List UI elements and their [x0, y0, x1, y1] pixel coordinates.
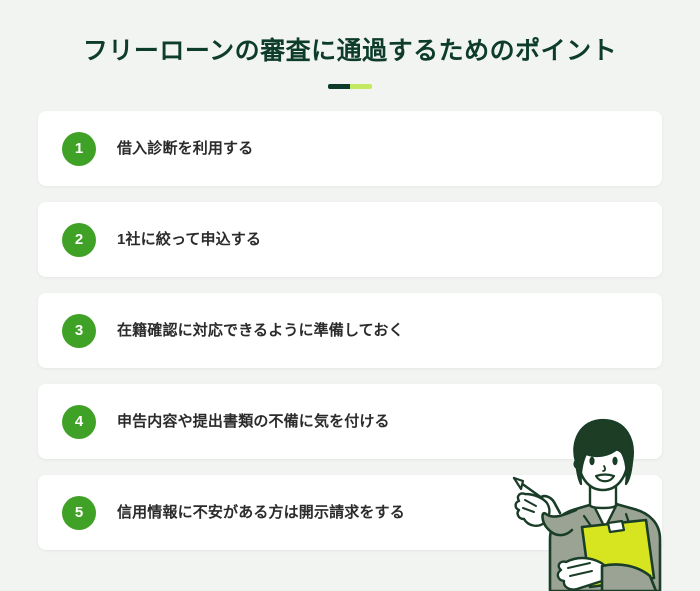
list-item[interactable]: 4 申告内容や提出書類の不備に気を付ける — [38, 384, 662, 459]
header: フリーローンの審査に通過するためのポイント — [0, 0, 700, 89]
title-divider — [328, 84, 372, 89]
list-item[interactable]: 3 在籍確認に対応できるように準備しておく — [38, 293, 662, 368]
point-label: 申告内容や提出書類の不備に気を付ける — [117, 411, 390, 432]
point-label: 在籍確認に対応できるように準備しておく — [117, 320, 404, 341]
points-infographic: フリーローンの審査に通過するためのポイント 1 借入診断を利用する 2 1社に絞… — [0, 0, 700, 591]
page-title: フリーローンの審査に通過するためのポイント — [0, 36, 700, 66]
points-list: 1 借入診断を利用する 2 1社に絞って申込する 3 在籍確認に対応できるように… — [38, 111, 662, 550]
point-label: 借入診断を利用する — [117, 138, 253, 159]
divider-light-segment — [350, 84, 372, 89]
point-number-badge: 5 — [62, 496, 96, 530]
point-number-badge: 3 — [62, 314, 96, 348]
list-item[interactable]: 1 借入診断を利用する — [38, 111, 662, 186]
point-number-badge: 4 — [62, 405, 96, 439]
divider-dark-segment — [328, 84, 350, 89]
point-label: 信用情報に不安がある方は開示請求をする — [117, 502, 405, 523]
point-number-badge: 1 — [62, 132, 96, 166]
point-number-badge: 2 — [62, 223, 96, 257]
point-label: 1社に絞って申込する — [117, 229, 261, 250]
list-item[interactable]: 5 信用情報に不安がある方は開示請求をする — [38, 475, 662, 550]
list-item[interactable]: 2 1社に絞って申込する — [38, 202, 662, 277]
